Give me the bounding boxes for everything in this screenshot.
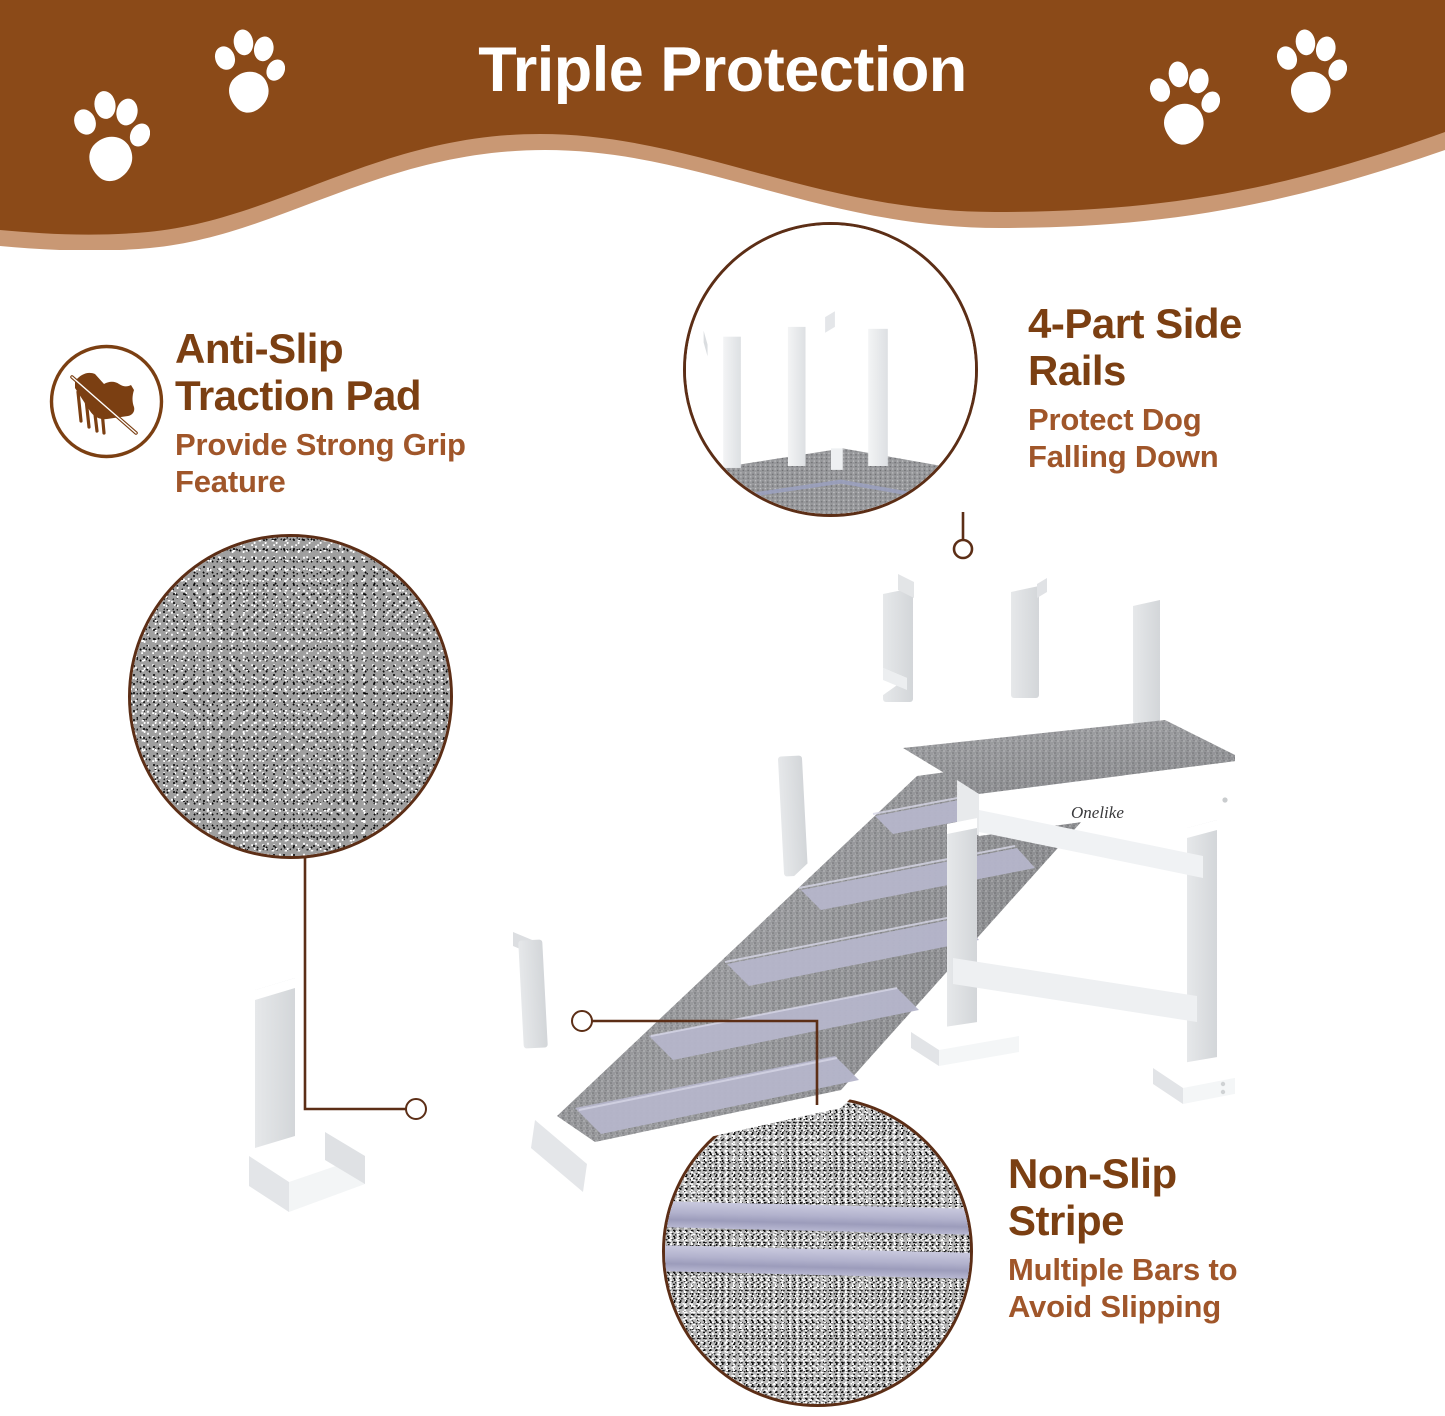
feature-title: Anti-Slip Traction Pad (175, 325, 575, 419)
side-rail-back (883, 560, 1061, 702)
feature-anti-slip-traction-pad: Anti-Slip Traction Pad Provide Strong Gr… (175, 325, 575, 500)
infographic-canvas: Triple Protection (0, 0, 1445, 1416)
feature-subtitle-line2: Feature (175, 464, 286, 499)
ramp-rail-foot-left (255, 978, 295, 1148)
feature-title-line2: Rails (1028, 347, 1126, 394)
feature-subtitle: Provide Strong Grip Feature (175, 427, 575, 500)
header-banner: Triple Protection (0, 0, 1445, 250)
feature-4-part-side-rails: 4-Part Side Rails Protect Dog Falling Do… (1028, 300, 1388, 475)
feature-subtitle-line1: Provide Strong Grip (175, 427, 466, 462)
no-slip-shoe-icon (48, 343, 165, 460)
feature-title-line1: 4-Part Side (1028, 300, 1242, 347)
feature-title: 4-Part Side Rails (1028, 300, 1388, 394)
brand-logo-text: Onelike (1071, 803, 1124, 822)
feature-subtitle-line2: Avoid Slipping (1008, 1289, 1221, 1324)
page-title: Triple Protection (0, 34, 1445, 106)
callout-side-rails-closeup (683, 222, 978, 517)
feature-subtitle-line1: Protect Dog (1028, 402, 1201, 437)
feature-title-line2: Traction Pad (175, 372, 421, 419)
feature-subtitle: Multiple Bars to Avoid Slipping (1008, 1252, 1388, 1325)
feature-title-line1: Anti-Slip (175, 325, 343, 372)
side-rail-right (1037, 578, 1195, 724)
callout-anchor-dot-carpet (405, 1098, 427, 1120)
feature-subtitle: Protect Dog Falling Down (1028, 402, 1388, 475)
callout-anchor-dot-stripe (571, 1010, 593, 1032)
feature-subtitle-line2: Falling Down (1028, 439, 1218, 474)
product-image-dog-ramp: Onelike (235, 560, 1235, 1220)
feature-subtitle-line1: Multiple Bars to (1008, 1252, 1237, 1287)
